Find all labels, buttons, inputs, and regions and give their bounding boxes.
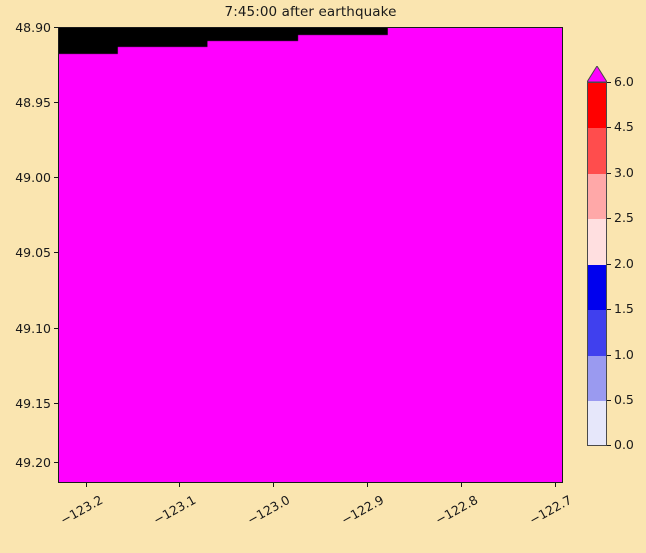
x-tick-label: −123.1 — [105, 492, 198, 553]
x-tick-mark — [86, 483, 87, 487]
x-tick-label: −123.0 — [199, 492, 292, 553]
x-tick-label: −122.7 — [481, 492, 574, 553]
page-title: 7:45:00 after earthquake — [58, 4, 563, 20]
colorbar-tick-mark — [607, 355, 611, 356]
figure-canvas: 7:45:00 after earthquake 48.90 48.95 49.… — [0, 0, 646, 536]
x-tick-mark — [273, 483, 274, 487]
y-tick-label: 49.10 — [15, 321, 51, 336]
colorbar-tick-label: 1.5 — [614, 301, 634, 316]
colorbar-extend-arrow — [587, 66, 607, 82]
colorbar-tick-mark — [607, 127, 611, 128]
colorbar-tick-label: 6.0 — [614, 74, 634, 89]
colorbar-tick-label: 2.0 — [614, 256, 634, 271]
colorbar-tick-label: 4.5 — [614, 119, 634, 134]
colorbar-band — [588, 128, 606, 174]
x-tick-label: −122.8 — [387, 492, 480, 553]
y-tick-mark — [54, 177, 58, 178]
colorbar-tick-mark — [607, 173, 611, 174]
colorbar-band — [588, 401, 606, 446]
colorbar-band — [588, 83, 606, 128]
x-tick-mark — [555, 483, 556, 487]
y-tick-mark — [54, 462, 58, 463]
y-tick-mark — [54, 27, 58, 28]
colorbar-band — [588, 356, 606, 401]
y-tick-label: 49.05 — [15, 245, 51, 260]
y-tick-label: 49.15 — [15, 396, 51, 411]
x-tick-mark — [461, 483, 462, 487]
colorbar-tick-label: 0.0 — [614, 437, 634, 452]
x-tick-mark — [367, 483, 368, 487]
x-tick-mark — [179, 483, 180, 487]
colorbar-tick-mark — [607, 445, 611, 446]
colorbar-band — [588, 219, 606, 265]
y-tick-label: 48.90 — [15, 20, 51, 35]
colorbar-tick-label: 1.0 — [614, 347, 634, 362]
colorbar-band — [588, 310, 606, 356]
y-tick-mark — [54, 403, 58, 404]
colorbar-tick-mark — [607, 400, 611, 401]
colorbar-tick-mark — [607, 309, 611, 310]
y-tick-mark — [54, 328, 58, 329]
colorbar-tick-mark — [607, 264, 611, 265]
colorbar-tick-label: 2.5 — [614, 210, 634, 225]
colorbar-band — [588, 265, 606, 310]
tsunami-heatmap — [59, 28, 562, 482]
colorbar[interactable] — [587, 82, 607, 446]
x-tick-label: −122.9 — [293, 492, 386, 553]
y-tick-mark — [54, 102, 58, 103]
y-tick-mark — [54, 252, 58, 253]
y-tick-label: 48.95 — [15, 95, 51, 110]
map-axes[interactable] — [58, 27, 563, 483]
y-tick-label: 49.20 — [15, 455, 51, 470]
y-tick-label: 49.00 — [15, 170, 51, 185]
colorbar-tick-label: 0.5 — [614, 392, 634, 407]
x-tick-label: −123.2 — [12, 492, 105, 553]
colorbar-tick-mark — [607, 218, 611, 219]
colorbar-band — [588, 174, 606, 219]
colorbar-tick-mark — [607, 82, 611, 83]
colorbar-tick-label: 3.0 — [614, 165, 634, 180]
